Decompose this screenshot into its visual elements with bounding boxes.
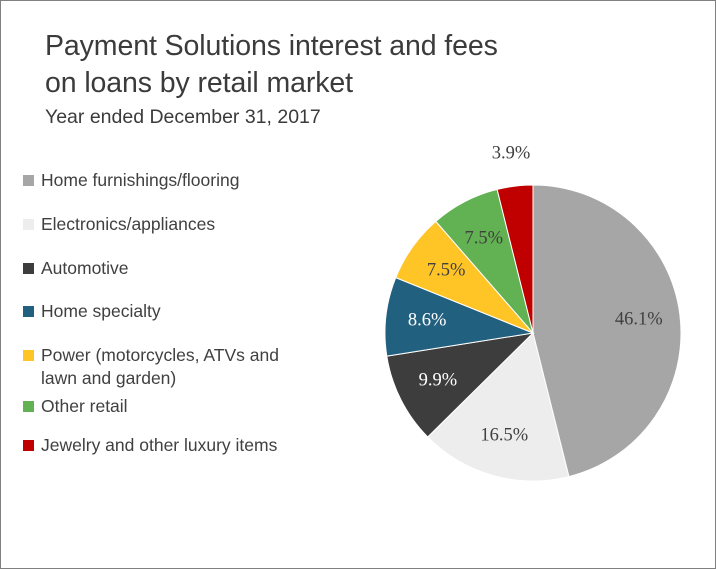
legend-swatch-icon [23, 350, 34, 361]
title-block: Payment Solutions interest and fees on l… [45, 28, 665, 129]
legend-item-label: Automotive [41, 257, 129, 280]
legend-item-label: Home furnishings/flooring [41, 169, 239, 192]
legend-item-label: Electronics/appliances [41, 213, 215, 236]
legend-swatch-icon [23, 440, 34, 451]
legend-item-label: Power (motorcycles, ATVs and lawn and ga… [41, 344, 279, 390]
legend-item[interactable]: Electronics/appliances [23, 213, 373, 236]
legend-swatch-icon [23, 306, 34, 317]
chart-subtitle: Year ended December 31, 2017 [45, 105, 665, 129]
legend-swatch-icon [23, 219, 34, 230]
legend-swatch-icon [23, 175, 34, 186]
chart-title: Payment Solutions interest and fees on l… [45, 28, 665, 102]
legend-item[interactable]: Other retail [23, 395, 373, 418]
legend-item[interactable]: Power (motorcycles, ATVs and lawn and ga… [23, 344, 373, 390]
chart-legend: Home furnishings/flooringElectronics/app… [23, 169, 373, 478]
legend-item[interactable]: Automotive [23, 257, 373, 280]
pie-svg [385, 185, 681, 481]
pie-chart: 46.1%16.5%9.9%8.6%7.5%7.5%3.9% [385, 185, 681, 481]
legend-item-label: Home specialty [41, 300, 161, 323]
legend-swatch-icon [23, 263, 34, 274]
legend-item[interactable]: Jewelry and other luxury items [23, 434, 373, 457]
legend-item[interactable]: Home specialty [23, 300, 373, 323]
legend-swatch-icon [23, 401, 34, 412]
legend-item-label: Other retail [41, 395, 128, 418]
legend-item[interactable]: Home furnishings/flooring [23, 169, 373, 192]
legend-item-label: Jewelry and other luxury items [41, 434, 277, 457]
pie-slice-label: 3.9% [492, 144, 531, 165]
chart-canvas: Payment Solutions interest and fees on l… [0, 0, 716, 569]
